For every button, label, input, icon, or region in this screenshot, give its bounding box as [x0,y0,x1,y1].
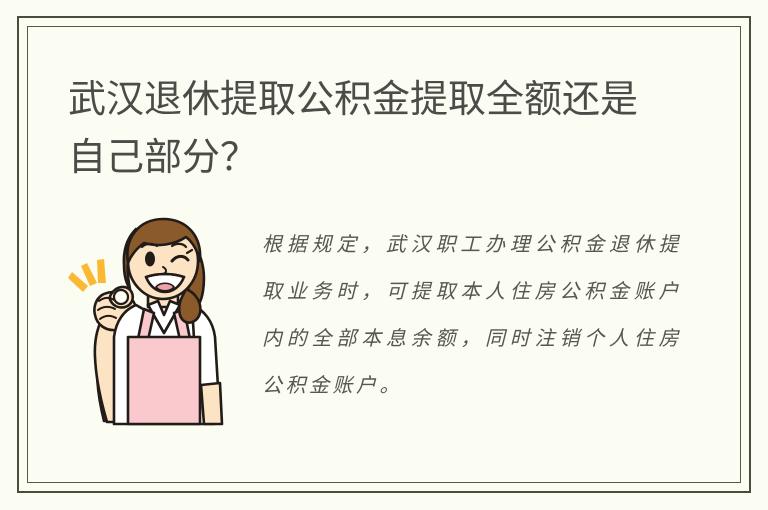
article-body-region: 根据规定，武汉职工办理公积金退休提取业务时，可提取本人住房公积金账户内的全部本息… [66,209,710,466]
sparkle-icon [68,259,106,292]
illustration-svg [66,209,242,434]
article-body-text: 根据规定，武汉职工办理公积金退休提取业务时，可提取本人住房公积金账户内的全部本息… [262,221,682,409]
apron [128,337,200,424]
eye-left [145,252,155,267]
page-title: 武汉退休提取公积金提取全额还是自己部分？ [68,71,668,187]
article-card: 武汉退休提取公积金提取全额还是自己部分？ [17,16,751,493]
tongue [156,283,174,291]
article-inner-frame: 武汉退休提取公积金提取全额还是自己部分？ [27,26,741,483]
right-forearm [201,383,222,424]
cartoon-woman-ok-gesture-illustration [66,209,242,434]
